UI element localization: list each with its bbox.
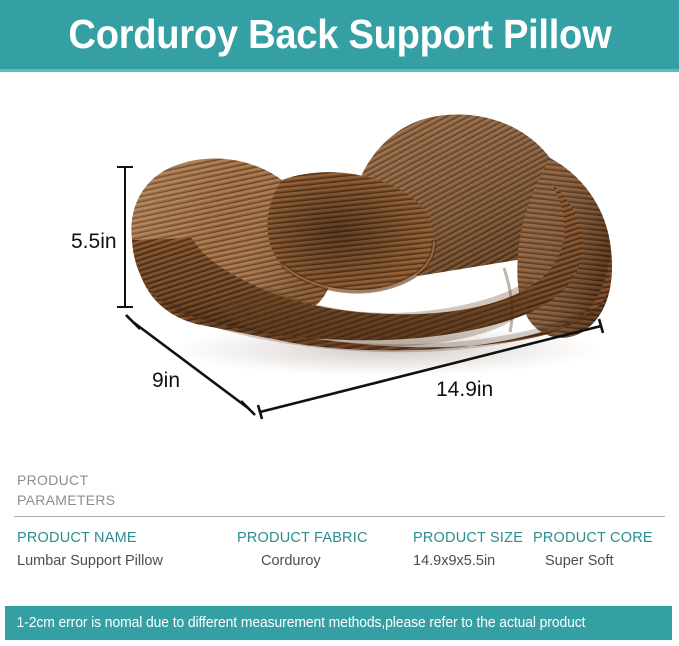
param-column-product-name: PRODUCT NAME Lumbar Support Pillow [17,529,227,570]
height-dimension-cap-bottom [117,306,133,308]
product-parameters-section: PRODUCT PARAMETERS PRODUCT NAME Lumbar S… [0,457,679,602]
param-label: PRODUCT NAME [17,529,227,547]
page-title: Corduroy Back Support Pillow [68,14,611,55]
parameters-table: PRODUCT NAME Lumbar Support Pillow PRODU… [0,529,679,589]
height-dimension-label: 5.5in [71,231,117,252]
param-label: PRODUCT SIZE [413,529,528,547]
header-banner: Corduroy Back Support Pillow [0,0,679,72]
pillow-illustration [118,100,638,400]
param-column-product-fabric: PRODUCT FABRIC Corduroy [237,529,402,570]
param-label: PRODUCT CORE [533,529,663,547]
param-column-product-core: PRODUCT CORE Super Soft [533,529,663,570]
param-column-product-size: PRODUCT SIZE 14.9x9x5.5in [413,529,528,570]
param-label: PRODUCT FABRIC [237,529,402,547]
param-value: Lumbar Support Pillow [17,552,227,570]
measurement-disclaimer: 1-2cm error is nomal due to different me… [5,615,585,631]
param-value: Corduroy [261,552,402,570]
product-infographic-page: Corduroy Back Support Pillow [0,0,679,646]
product-image-stage: 5.5in 9in 14.9in [0,72,679,457]
param-value: Super Soft [545,552,663,570]
param-value: 14.9x9x5.5in [413,552,528,570]
depth-dimension-label: 9in [152,370,180,391]
height-dimension-cap-top [117,166,133,168]
width-dimension-label: 14.9in [436,379,493,400]
parameters-heading: PRODUCT PARAMETERS [17,470,115,510]
parameters-divider [14,516,665,517]
footer-banner: 1-2cm error is nomal due to different me… [5,606,672,640]
height-dimension-shaft [124,166,126,308]
